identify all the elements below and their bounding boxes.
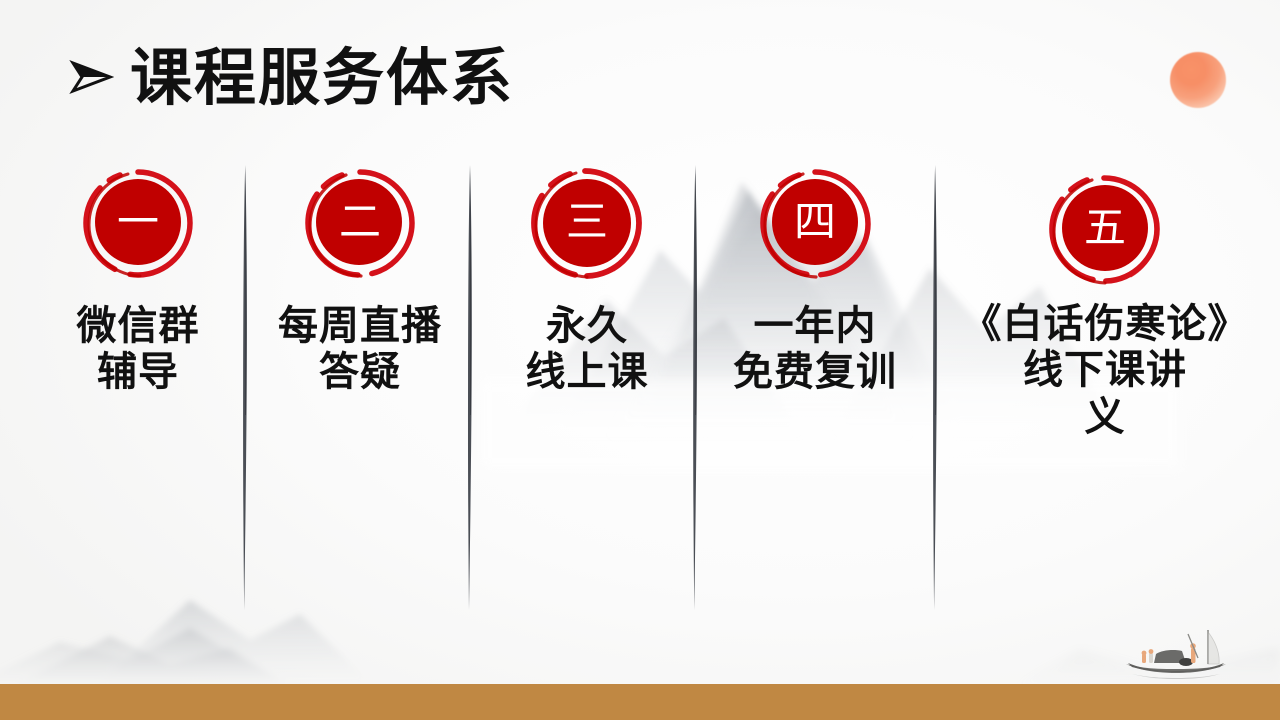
service-item-label: 永久 线上课: [492, 303, 682, 396]
arrow-bullet-icon: [68, 54, 114, 100]
sun-disc-icon: [1170, 52, 1226, 108]
bottom-accent-band: [0, 684, 1280, 720]
service-item-label: 《白话伤寒论》 线下课讲 义: [940, 301, 1270, 440]
red-brush-circle-stamp-icon: 四: [757, 165, 873, 281]
slide-canvas: 课程服务体系: [0, 0, 1280, 720]
brush-stroke-divider-icon: [463, 165, 477, 610]
service-item-label: 每周直播 答疑: [265, 303, 455, 396]
service-item-numeral: 一: [80, 165, 196, 281]
service-item-1: 一 微信群 辅导: [48, 165, 228, 396]
page-title-text: 课程服务体系: [130, 48, 514, 110]
service-item-numeral: 二: [302, 165, 418, 281]
chinese-boat-icon: [1112, 624, 1240, 686]
service-columns: 一 微信群 辅导 二 每周直播 答疑: [0, 165, 1280, 620]
service-item-2: 二 每周直播 答疑: [265, 165, 455, 396]
brush-stroke-divider-icon: [688, 165, 702, 610]
brush-stroke-divider-icon: [238, 165, 252, 610]
service-item-numeral: 四: [757, 165, 873, 281]
red-brush-circle-stamp-icon: 二: [302, 165, 418, 281]
page-title: 课程服务体系: [68, 48, 514, 110]
red-brush-circle-stamp-icon: 三: [529, 165, 645, 281]
service-item-label: 一年内 免费复训: [715, 303, 915, 396]
red-brush-circle-stamp-icon: 一: [80, 165, 196, 281]
service-item-numeral: 三: [529, 165, 645, 281]
service-item-numeral: 五: [1047, 171, 1163, 287]
red-brush-circle-stamp-icon: 五: [1047, 171, 1163, 287]
service-item-5: 五 《白话伤寒论》 线下课讲 义: [940, 165, 1270, 440]
service-item-4: 四 一年内 免费复训: [715, 165, 915, 396]
service-item-3: 三 永久 线上课: [492, 165, 682, 396]
service-item-label: 微信群 辅导: [48, 303, 228, 396]
